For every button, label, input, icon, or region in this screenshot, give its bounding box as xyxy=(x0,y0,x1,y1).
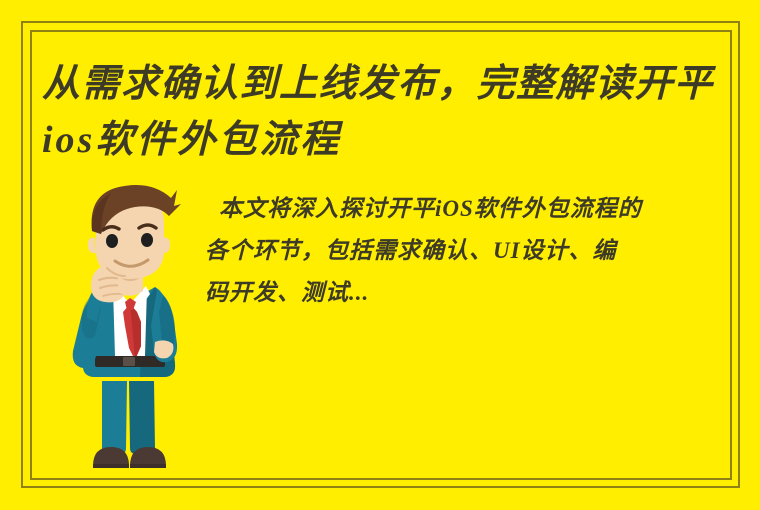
article-summary-line-2: 各个环节，包括需求确认、UI设计、编 xyxy=(205,230,729,272)
article-summary: 本文将深入探讨开平iOS软件外包流程的 各个环节，包括需求确认、UI设计、编 码… xyxy=(205,188,729,314)
page-title: 从需求确认到上线发布，完整解读开平 ios软件外包流程 xyxy=(42,56,726,168)
page-title-line-2: ios软件外包流程 xyxy=(42,112,726,168)
page-title-line-1: 从需求确认到上线发布，完整解读开平 xyxy=(42,56,726,112)
article-summary-line-1: 本文将深入探讨开平iOS软件外包流程的 xyxy=(205,188,729,230)
article-summary-line-3: 码开发、测试... xyxy=(205,272,729,314)
thinking-businessman-illustration xyxy=(55,176,205,481)
poster-canvas: 从需求确认到上线发布，完整解读开平 ios软件外包流程 本文将深入探讨开平iOS… xyxy=(0,0,760,510)
